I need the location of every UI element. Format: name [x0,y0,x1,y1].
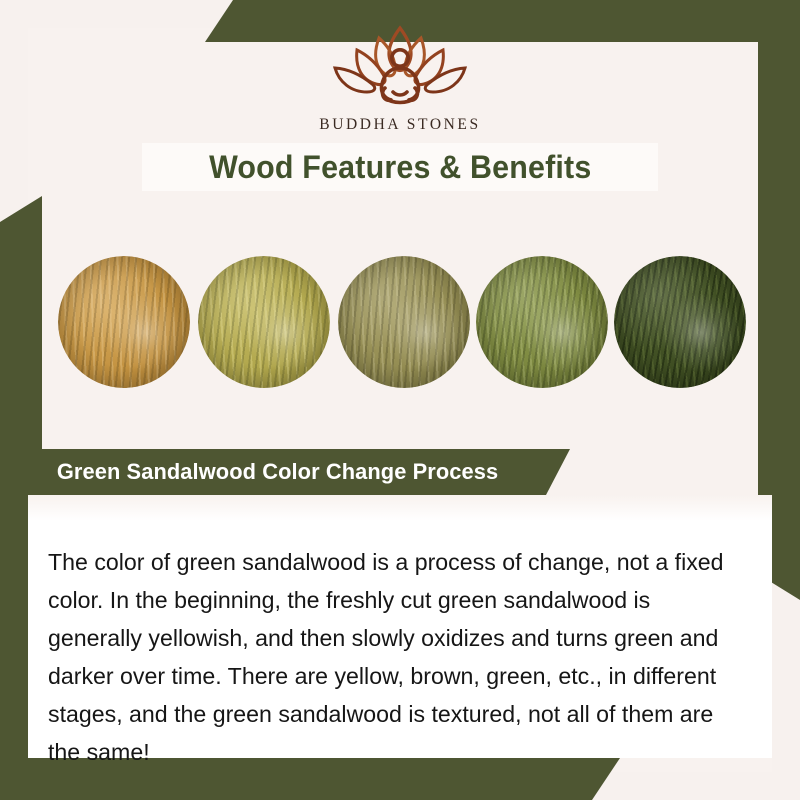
poster-root: BUDDHA STONES Wood Features & Benefits [0,0,800,800]
page-title-plate: Wood Features & Benefits [142,143,658,191]
bead-shading [614,256,746,388]
page-title: Wood Features & Benefits [209,149,591,186]
bead-stage-2 [198,256,330,388]
bead-stage-5 [614,256,746,388]
bead-stage-4 [476,256,608,388]
brand-logo: BUDDHA STONES [0,22,800,134]
bead-stage-3 [338,256,470,388]
section-title: Green Sandalwood Color Change Process [57,459,498,485]
bead-shading [198,256,330,388]
card-top-fade [28,495,772,521]
bead-shading [476,256,608,388]
lotus-meditation-icon [307,22,493,114]
bead-gallery [0,256,800,398]
brand-name: BUDDHA STONES [0,116,800,134]
description-card: The color of green sandalwood is a proce… [28,495,772,758]
description-text: The color of green sandalwood is a proce… [48,543,743,771]
bead-shading [58,256,190,388]
bead-shading [338,256,470,388]
bead-stage-1 [58,256,190,388]
section-ribbon: Green Sandalwood Color Change Process [28,449,570,495]
